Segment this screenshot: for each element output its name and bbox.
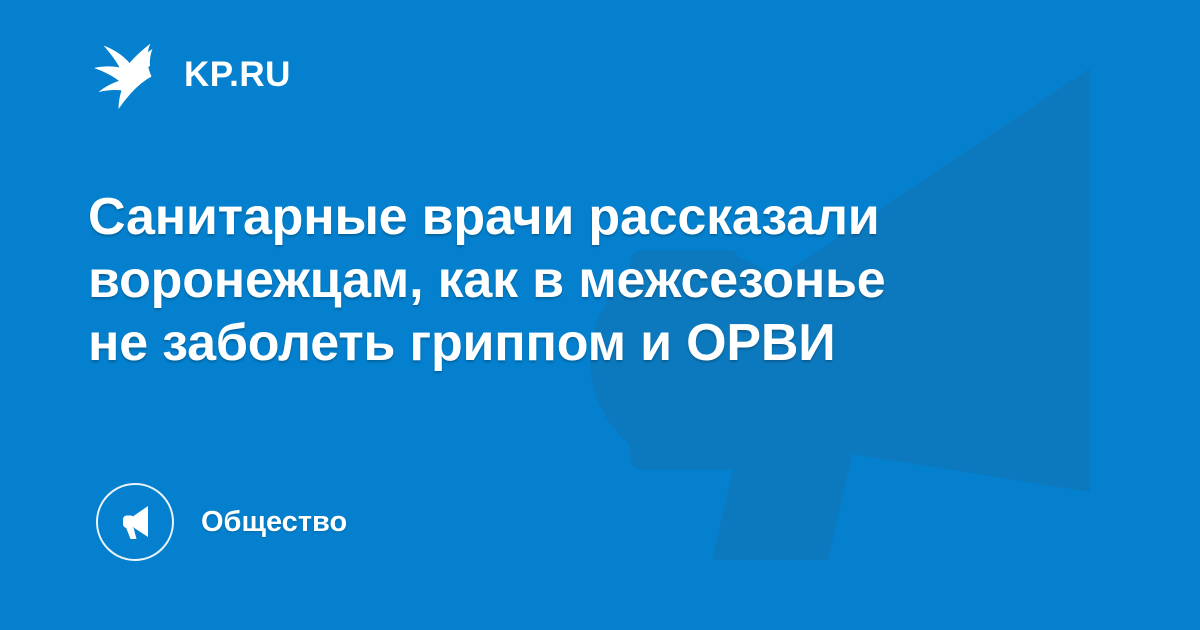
brand-logo[interactable]: KP.RU (88, 38, 291, 110)
megaphone-icon (96, 483, 174, 561)
swallow-bird-icon (88, 38, 162, 110)
social-share-card: KP.RU Санитарные врачи рассказали вороне… (0, 0, 1200, 630)
category-label: Общество (201, 508, 347, 537)
category-badge[interactable]: Общество (96, 483, 347, 561)
headline-line-2: воронежцам, как в межсезонье (88, 249, 1048, 312)
headline-line-3: не заболеть гриппом и ОРВИ (88, 312, 1048, 375)
headline: Санитарные врачи рассказали воронежцам, … (88, 186, 1048, 375)
headline-line-1: Санитарные врачи рассказали (88, 186, 1048, 249)
brand-wordmark: KP.RU (184, 57, 291, 92)
